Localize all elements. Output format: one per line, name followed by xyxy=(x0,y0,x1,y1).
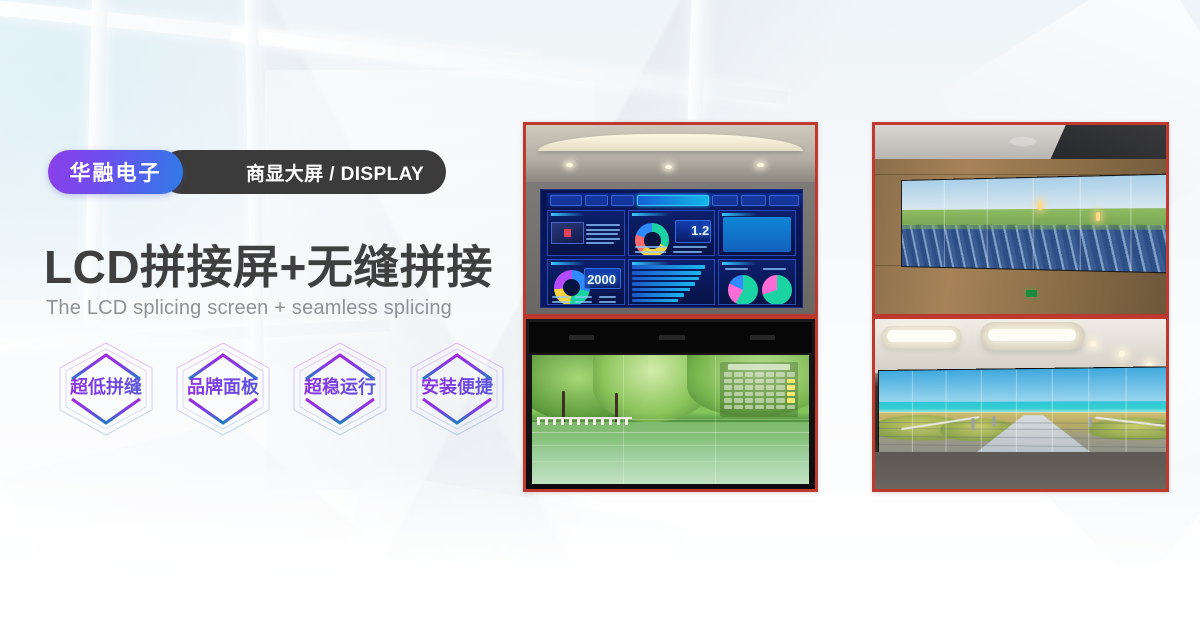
feature-label: 安装便捷 xyxy=(403,373,511,399)
brand-badge: 商显大屏 / DISPLAY 华融电子 xyxy=(48,150,183,194)
background-beam xyxy=(231,28,789,104)
metric-secondary: 2000 xyxy=(587,272,616,287)
screen-content-dashboard: 1.2 2000 xyxy=(540,189,802,308)
product-photo-beach-boardwalk-video-wall[interactable] xyxy=(872,316,1169,492)
background-shard xyxy=(330,470,690,640)
metric-primary: 1.2 xyxy=(691,223,709,238)
screen-content-beach-boardwalk xyxy=(878,366,1166,457)
feature-badge-2: 品牌面板 xyxy=(169,337,277,441)
feature-label: 超稳运行 xyxy=(286,373,394,399)
badge-category-label: 商显大屏 / DISPLAY xyxy=(160,150,446,194)
feature-badge-3: 超稳运行 xyxy=(286,337,394,441)
badge-brand-name: 华融电子 xyxy=(48,150,183,194)
screen-content-solar-farm xyxy=(901,173,1166,273)
feature-badge-1: 超低拼缝 xyxy=(52,337,160,441)
background-beam xyxy=(0,0,539,72)
exit-sign-icon xyxy=(1026,290,1037,297)
product-photo-solar-farm-video-wall[interactable] xyxy=(872,122,1169,317)
promo-banner: 商显大屏 / DISPLAY 华融电子 LCD拼接屏+无缝拼接 The LCD … xyxy=(0,0,1200,640)
background-beam xyxy=(688,0,708,120)
product-photo-dashboard-video-wall[interactable]: 1.2 2000 xyxy=(523,122,818,317)
product-photo-willow-lake-video-wall[interactable] xyxy=(523,316,818,492)
page-subtitle: The LCD splicing screen + seamless splic… xyxy=(46,297,452,320)
feature-label: 品牌面板 xyxy=(169,373,277,399)
feature-badge-4: 安装便捷 xyxy=(403,337,511,441)
screen-content-willow-lake xyxy=(532,355,809,484)
feature-list: 超低拼缝 品牌面板 超稳运行 xyxy=(52,337,522,441)
feature-label: 超低拼缝 xyxy=(52,373,160,399)
calendar-overlay xyxy=(720,362,798,416)
page-title: LCD拼接屏+无缝拼接 xyxy=(44,231,493,297)
background-shard xyxy=(0,420,420,640)
